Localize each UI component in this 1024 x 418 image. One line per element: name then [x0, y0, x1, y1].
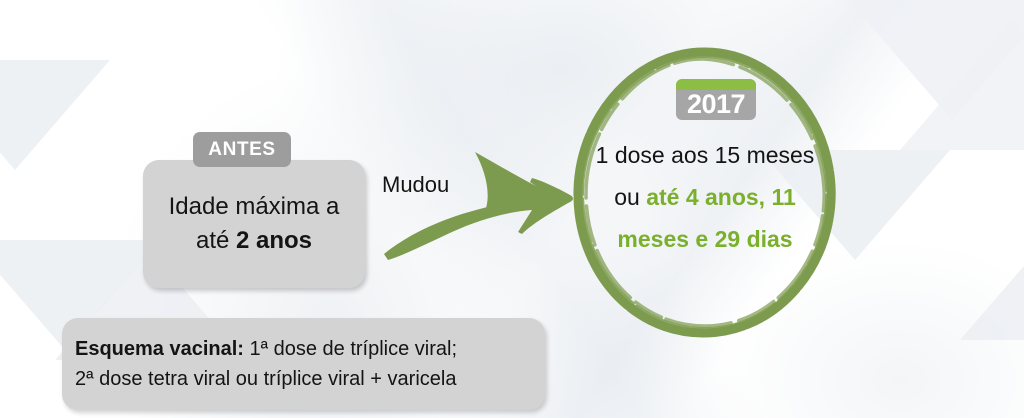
- after-line-3: meses e 29 dias: [578, 218, 832, 260]
- before-line-2-bold: 2 anos: [236, 227, 312, 254]
- before-line-1: Idade máxima a: [169, 190, 340, 224]
- before-line-2: até 2 anos: [196, 224, 312, 258]
- year-label: 2017: [687, 89, 745, 120]
- background-triangle: [840, 0, 1024, 120]
- schedule-line-2: 2ª dose tetra viral ou tríplice viral + …: [62, 364, 545, 394]
- background-triangle: [0, 60, 110, 170]
- antes-badge: ANTES: [193, 132, 291, 167]
- schedule-line-1: Esquema vacinal: 1ª dose de tríplice vir…: [62, 334, 545, 364]
- background-triangle: [960, 230, 1024, 340]
- before-info-box: Idade máxima a até 2 anos: [143, 160, 365, 288]
- after-line-2-green: até 4 anos, 11: [646, 184, 796, 210]
- schedule-line-1-bold: Esquema vacinal:: [75, 338, 244, 360]
- background-triangle: [900, 20, 1024, 150]
- curved-arrow-right-icon: [380, 140, 580, 260]
- after-line-1: 1 dose aos 15 meses: [578, 134, 832, 176]
- slide-canvas: ANTES Idade máxima a até 2 anos Mudou 20…: [0, 0, 1024, 418]
- schedule-line-1-rest: 1ª dose de tríplice viral;: [244, 338, 457, 360]
- before-line-2-prefix: até: [196, 227, 236, 254]
- antes-badge-label: ANTES: [208, 139, 275, 161]
- after-line-2-prefix: ou: [614, 184, 646, 210]
- vaccine-schedule-box: Esquema vacinal: 1ª dose de tríplice vir…: [62, 318, 545, 410]
- after-line-2: ou até 4 anos, 11: [578, 176, 832, 218]
- year-badge-2017: 2017: [676, 79, 756, 120]
- transition-label: Mudou: [382, 172, 449, 198]
- after-line-3-green: meses e 29 dias: [617, 226, 792, 252]
- after-info-text: 1 dose aos 15 meses ou até 4 anos, 11 me…: [578, 134, 832, 260]
